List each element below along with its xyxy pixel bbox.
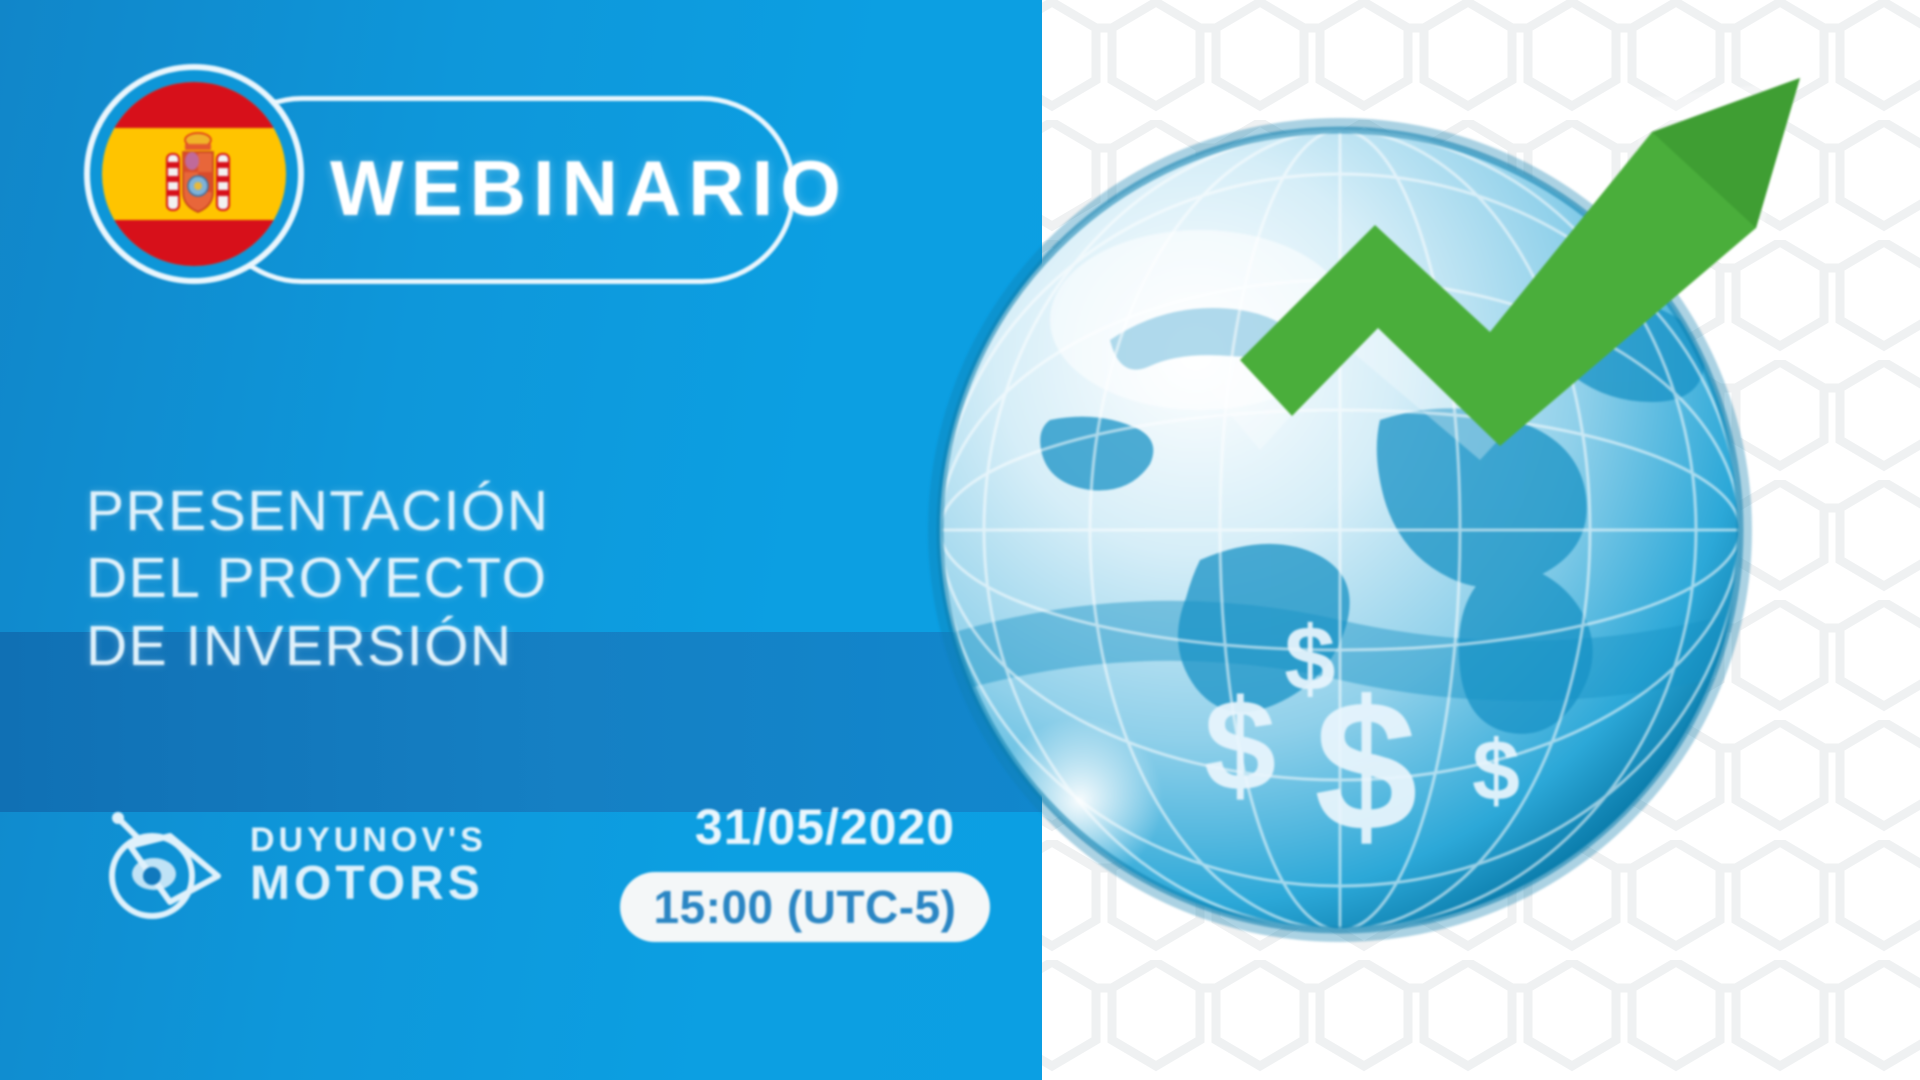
webinar-banner: WEBINARIO PRESENTACIÓN DEL PROYECTO DE I… xyxy=(0,0,1920,1080)
subtitle-line-1: PRESENTACIÓN xyxy=(86,478,786,545)
dollar-sign-4: $ xyxy=(1472,723,1520,819)
flag-stripe-bottom xyxy=(102,220,286,266)
spain-flag-icon xyxy=(102,82,286,266)
brand-logo: DUYUNOV'S MOTORS xyxy=(100,800,520,932)
logo-line-1: DUYUNOV'S xyxy=(250,823,487,859)
spain-coat-of-arms-icon xyxy=(161,128,235,220)
flag-stripe-top xyxy=(102,82,286,128)
logo-text: DUYUNOV'S MOTORS xyxy=(250,823,487,909)
green-growth-arrow-icon xyxy=(1200,60,1820,580)
subtitle-line-2: DEL PROYECTO xyxy=(86,545,786,612)
subtitle-block: PRESENTACIÓN DEL PROYECTO DE INVERSIÓN xyxy=(86,478,786,680)
globe-artwork: $ $ $ $ xyxy=(900,60,1820,1020)
spain-flag-badge xyxy=(84,64,304,284)
duyunov-motors-emblem-icon xyxy=(100,802,228,930)
page-title: WEBINARIO xyxy=(330,128,800,248)
logo-line-2: MOTORS xyxy=(250,859,487,909)
subtitle-line-3: DE INVERSIÓN xyxy=(86,613,786,680)
